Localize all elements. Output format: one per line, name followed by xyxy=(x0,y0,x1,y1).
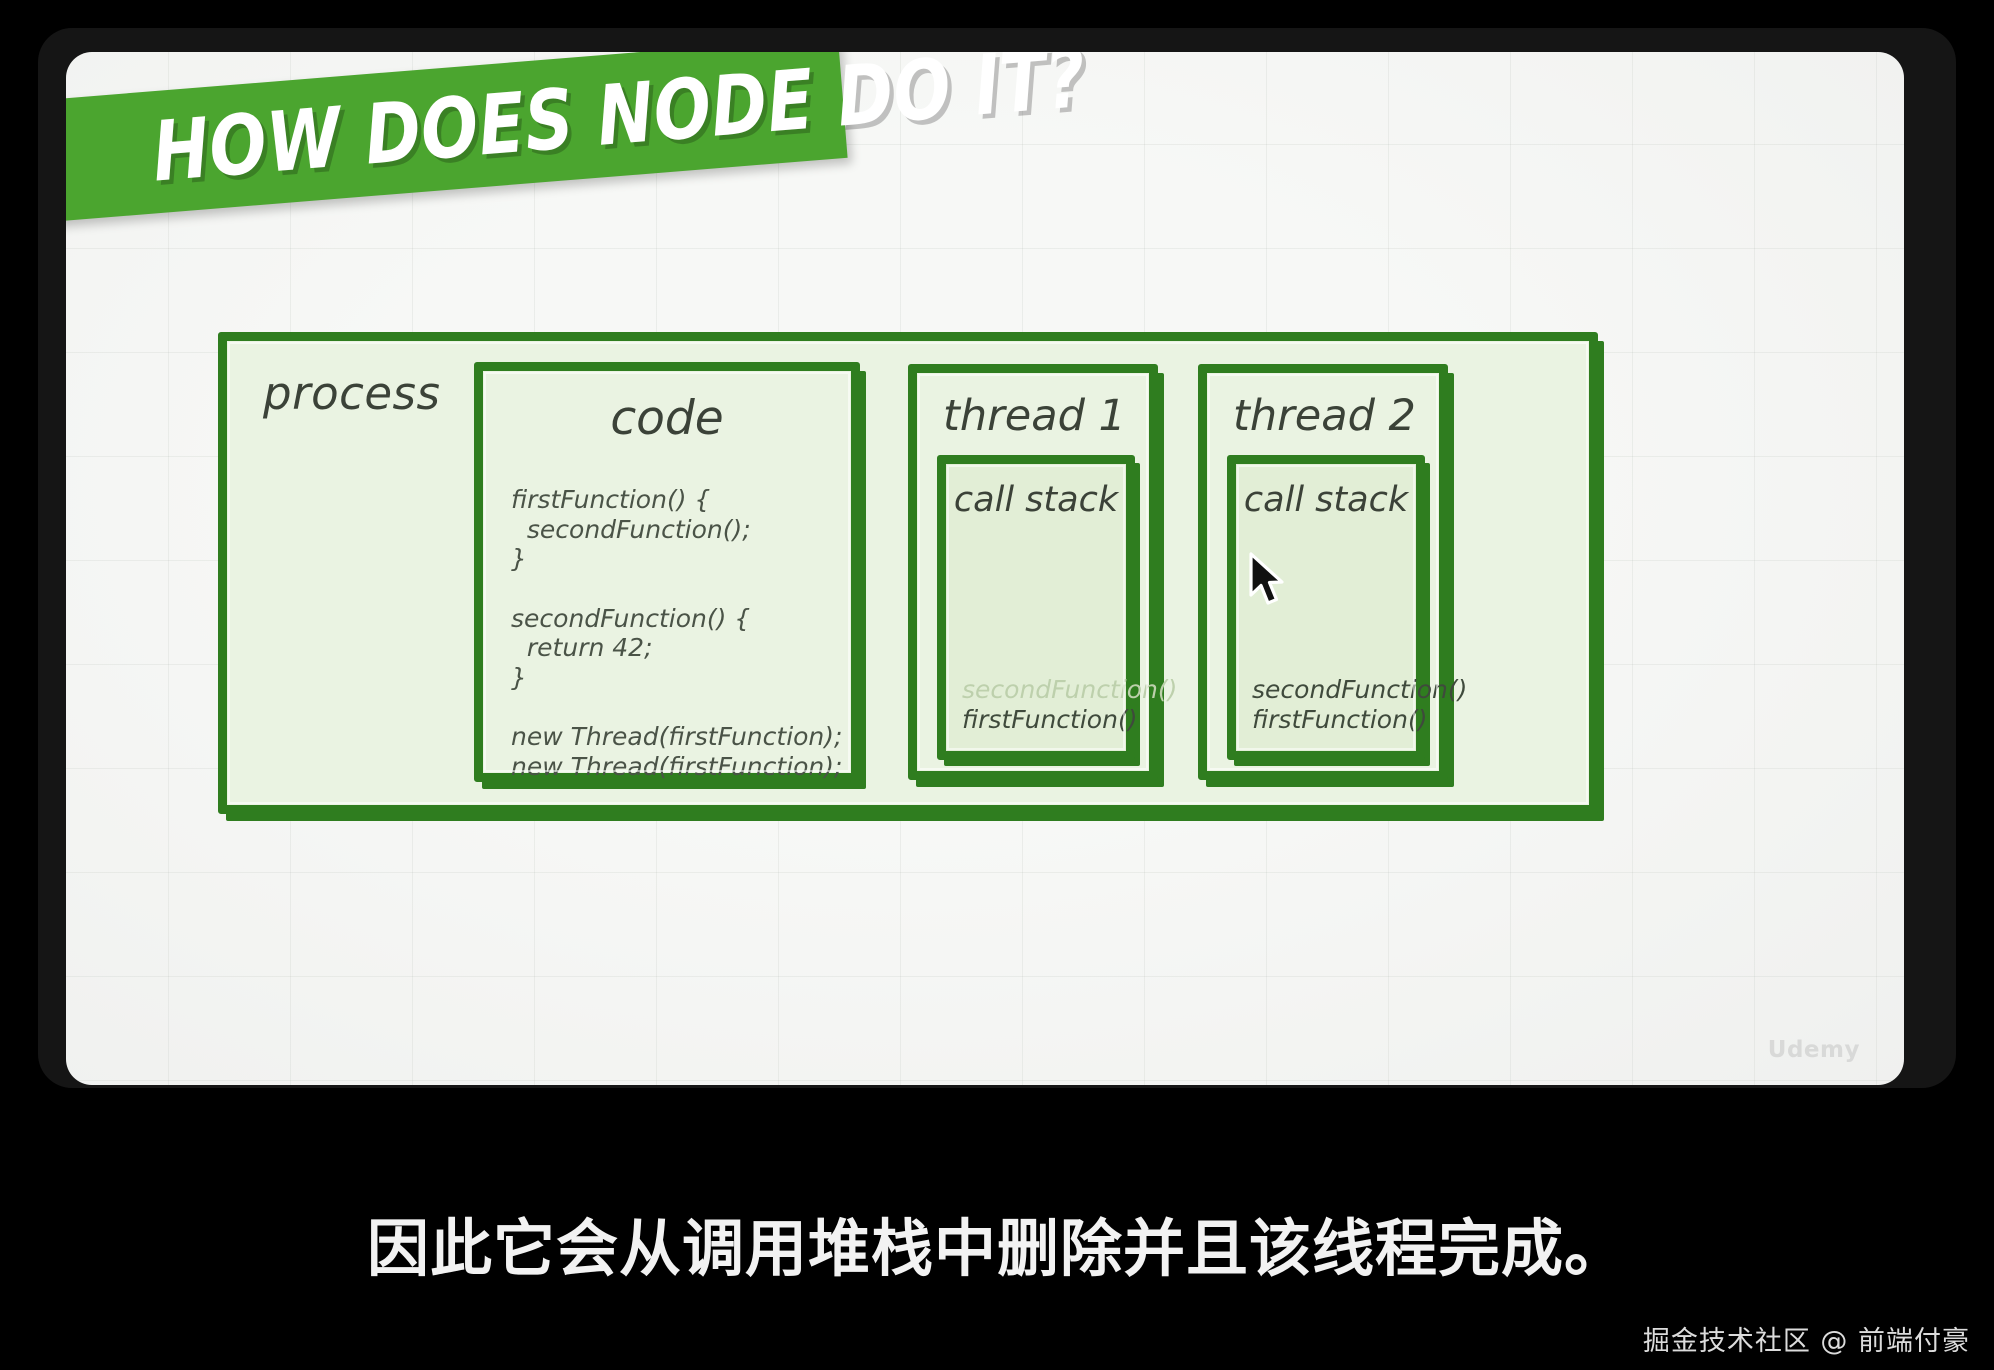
code-line: } xyxy=(511,663,839,693)
video-player-frame: HOW DOES NODE DO IT? process code firstF… xyxy=(0,0,1994,1370)
channel-watermark: 掘金技术社区 @ 前端付豪 xyxy=(1643,1319,1970,1358)
code-box: code firstFunction() { secondFunction();… xyxy=(474,362,860,782)
call-stack-title: call stack xyxy=(1236,480,1416,520)
subtitle-band: 因此它会从调用堆栈中删除并且该线程完成。 掘金技术社区 @ 前端付豪 xyxy=(0,1088,1994,1370)
stack-frame: secondFunction() xyxy=(962,675,1120,705)
call-stack-title: call stack xyxy=(946,480,1126,520)
thread-2-call-stack-box: call stack secondFunction() firstFunctio… xyxy=(1227,455,1425,760)
subtitle-text: 因此它会从调用堆栈中删除并且该线程完成。 xyxy=(0,1198,1994,1288)
thread-1-stack-frames: secondFunction() firstFunction() xyxy=(962,675,1120,735)
process-label: process xyxy=(263,367,440,420)
code-blank-line xyxy=(511,574,839,604)
thread-1-call-stack-box: call stack secondFunction() firstFunctio… xyxy=(937,455,1135,760)
thread-2-stack-frames: secondFunction() firstFunction() xyxy=(1252,675,1410,735)
stack-frame: firstFunction() xyxy=(1252,705,1410,735)
code-line: firstFunction() { xyxy=(511,485,839,515)
stack-frame: secondFunction() xyxy=(1252,675,1410,705)
code-box-title: code xyxy=(483,391,851,446)
code-line: new Thread(firstFunction); xyxy=(511,752,839,782)
code-line: return 42; xyxy=(511,633,839,663)
code-listing: firstFunction() { secondFunction(); } se… xyxy=(511,485,839,781)
thread-2-title: thread 2 xyxy=(1233,391,1416,441)
thread-1-box: thread 1 call stack secondFunction() fir… xyxy=(908,364,1158,780)
udemy-watermark: Udemy xyxy=(1768,1037,1860,1063)
code-line: secondFunction() { xyxy=(511,604,839,634)
thread-2-box: thread 2 call stack secondFunction() fir… xyxy=(1198,364,1448,780)
slide-card: HOW DOES NODE DO IT? process code firstF… xyxy=(66,52,1904,1085)
stack-frame: firstFunction() xyxy=(962,705,1120,735)
code-line: } xyxy=(511,544,839,574)
code-blank-line xyxy=(511,692,839,722)
thread-1-title: thread 1 xyxy=(943,391,1126,441)
code-line: secondFunction(); xyxy=(511,515,839,545)
code-line: new Thread(firstFunction); xyxy=(511,722,839,752)
